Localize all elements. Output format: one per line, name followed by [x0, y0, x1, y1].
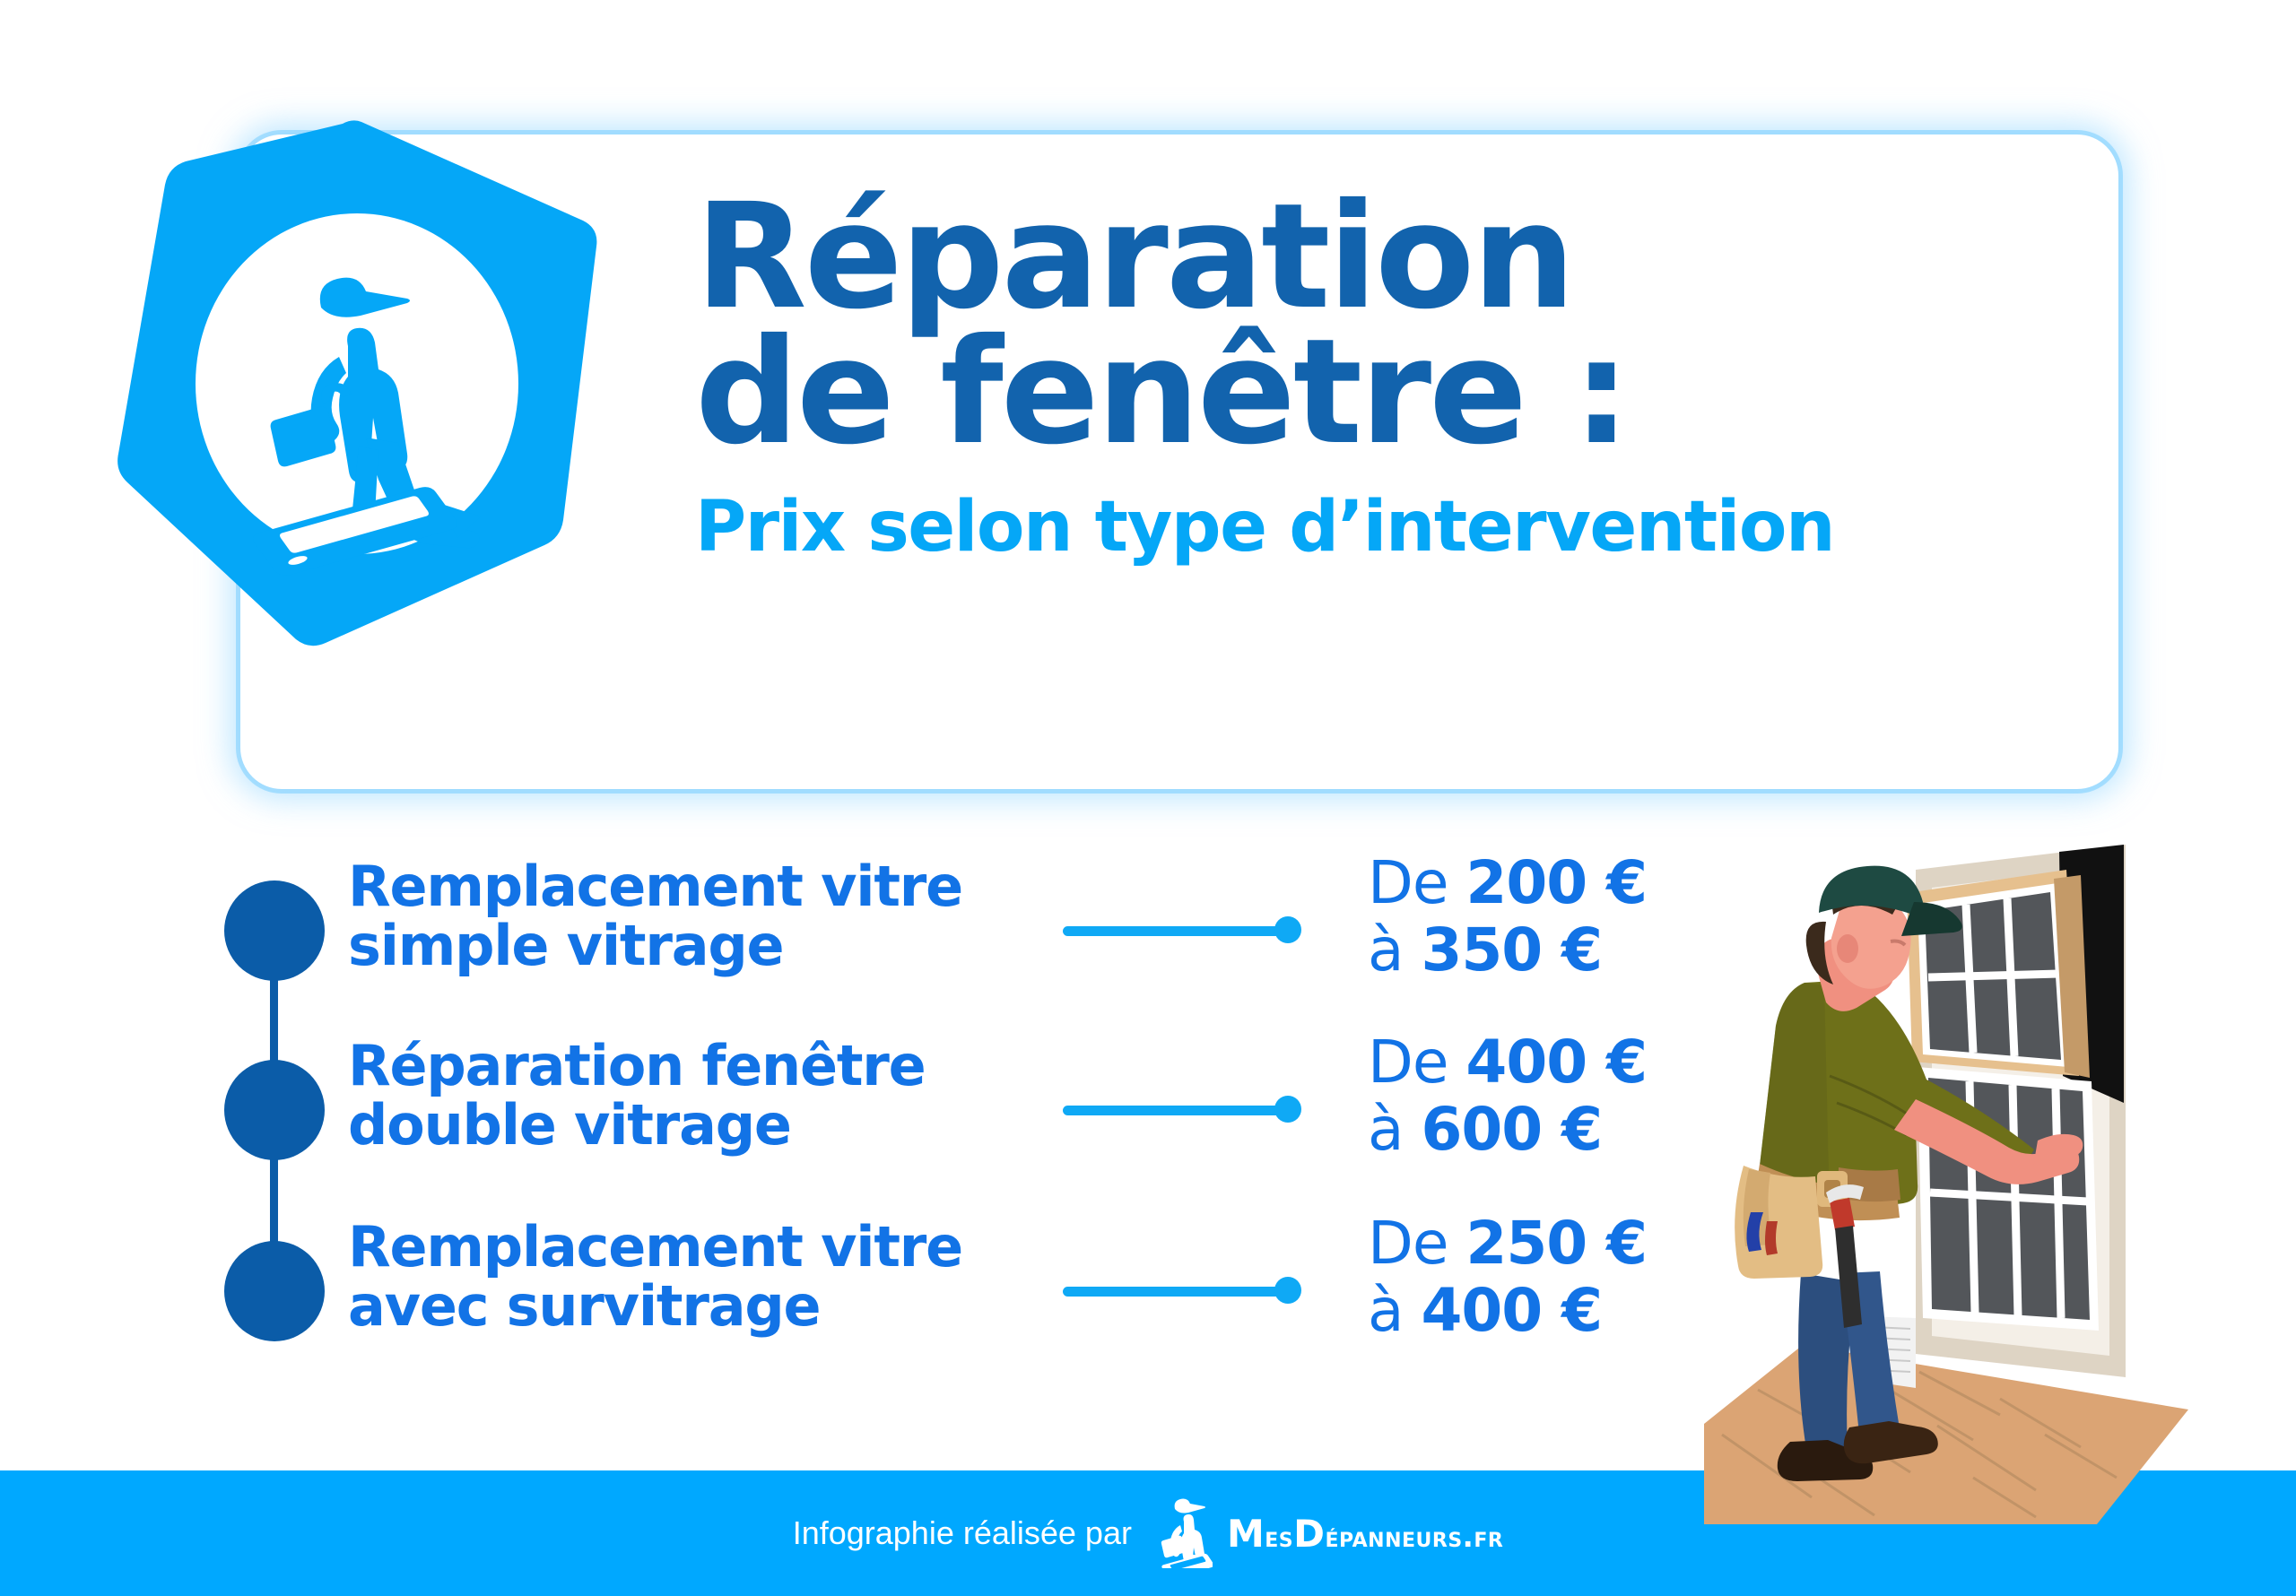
price-to-row: à 350 €: [1368, 917, 1744, 984]
price-to-prefix: à: [1368, 1276, 1403, 1345]
connector-bar: [1063, 1106, 1289, 1115]
price-to-row: à 400 €: [1368, 1278, 1744, 1345]
price-from-value: 200 €: [1465, 848, 1647, 917]
page-title: Réparation de fenêtre : Prix selon type …: [695, 190, 2094, 568]
footer: Infographie réalisée par MesDépanneurs.f…: [0, 1470, 2296, 1596]
bullet-dot-icon: [224, 1241, 325, 1341]
page-subtitle: Prix selon type d’intervention: [695, 487, 2094, 568]
connector-line: [1063, 916, 1314, 943]
footer-credit-text: Infographie réalisée par: [793, 1514, 1132, 1552]
brand-m: M: [1227, 1512, 1265, 1556]
item-label: Remplacement vitre simple vitrage: [348, 857, 1003, 975]
bullet-dot-icon: [224, 1060, 325, 1160]
handyman-installing-window-illustration: [1704, 807, 2296, 1524]
price-from-value: 250 €: [1465, 1209, 1647, 1278]
item-label: Réparation fenêtre double vitrage: [348, 1037, 1003, 1154]
brand-d: D: [1293, 1512, 1325, 1556]
bullet-dot-icon: [224, 880, 325, 981]
connector-line: [1063, 1096, 1314, 1123]
item-label-line-2: simple vitrage: [348, 916, 1003, 976]
brand-es: es: [1265, 1520, 1293, 1554]
item-label-line-1: Remplacement vitre: [348, 857, 1003, 916]
price-from-row: De 200 €: [1368, 850, 1744, 917]
price-from-prefix: De: [1368, 1028, 1448, 1097]
item-price: De 400 € à 600 €: [1368, 1029, 1744, 1163]
connector-knob-icon: [1274, 916, 1301, 943]
connector-line: [1063, 1277, 1314, 1304]
brand-tld: .fr: [1463, 1520, 1504, 1554]
price-to-value: 350 €: [1421, 915, 1602, 984]
price-from-value: 400 €: [1465, 1028, 1647, 1097]
title-line-1: Réparation: [695, 190, 2094, 325]
item-price: De 200 € à 350 €: [1368, 850, 1744, 984]
worker-running-on-smartphone-icon: [1155, 1498, 1213, 1568]
connector-knob-icon: [1274, 1277, 1301, 1304]
price-to-prefix: à: [1368, 915, 1403, 984]
price-from-prefix: De: [1368, 1209, 1448, 1278]
item-label-line-1: Remplacement vitre: [348, 1218, 1003, 1277]
item-label-line-2: double vitrage: [348, 1096, 1003, 1155]
price-from-row: De 400 €: [1368, 1029, 1744, 1097]
brand-logo[interactable]: MesDépanneurs.fr: [1155, 1498, 1503, 1568]
price-from-prefix: De: [1368, 848, 1448, 917]
price-to-value: 600 €: [1421, 1095, 1602, 1164]
price-from-row: De 250 €: [1368, 1210, 1744, 1278]
connector-knob-icon: [1274, 1096, 1301, 1123]
price-to-row: à 600 €: [1368, 1097, 1744, 1164]
item-price: De 250 € à 400 €: [1368, 1210, 1744, 1344]
item-label: Remplacement vitre avec survitrage: [348, 1218, 1003, 1335]
connector-bar: [1063, 926, 1289, 936]
title-line-2: de fenêtre :: [695, 325, 2094, 461]
connector-bar: [1063, 1287, 1289, 1297]
brand-epanneurs: épanneurs: [1326, 1520, 1463, 1554]
item-label-line-2: avec survitrage: [348, 1277, 1003, 1336]
brand-name: MesDépanneurs.fr: [1227, 1512, 1503, 1556]
price-to-value: 400 €: [1421, 1276, 1602, 1345]
logo-badge: [108, 115, 610, 653]
price-to-prefix: à: [1368, 1095, 1403, 1164]
worker-running-on-smartphone-icon: [108, 115, 610, 653]
infographic-canvas: Réparation de fenêtre : Prix selon type …: [0, 0, 2296, 1596]
item-label-line-1: Réparation fenêtre: [348, 1037, 1003, 1096]
